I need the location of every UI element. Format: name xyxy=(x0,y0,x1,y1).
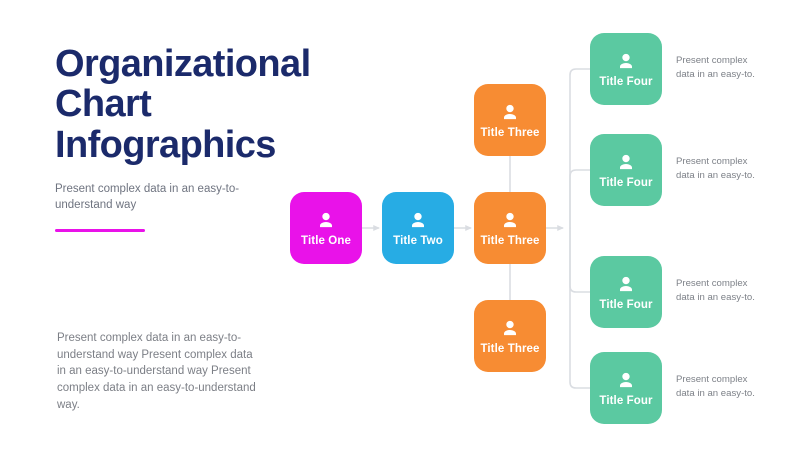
node-title-four-3-label: Title Four xyxy=(599,299,652,311)
node-title-three-2[interactable]: Title Three xyxy=(474,192,546,264)
person-icon xyxy=(500,318,520,338)
node-title-four-2[interactable]: Title Four xyxy=(590,134,662,206)
node-title-two[interactable]: Title Two xyxy=(382,192,454,264)
node-title-four-1-description: Present complex data in an easy-to. xyxy=(676,54,762,82)
node-title-four-2-label: Title Four xyxy=(599,177,652,189)
node-title-four-4-description: Present complex data in an easy-to. xyxy=(676,373,762,401)
node-title-four-4[interactable]: Title Four xyxy=(590,352,662,424)
person-icon xyxy=(500,210,520,230)
person-icon xyxy=(408,210,428,230)
node-title-four-3-description: Present complex data in an easy-to. xyxy=(676,277,762,305)
node-title-four-2-description: Present complex data in an easy-to. xyxy=(676,155,762,183)
node-title-one[interactable]: Title One xyxy=(290,192,362,264)
person-icon xyxy=(616,51,636,71)
person-icon xyxy=(500,102,520,122)
node-title-four-4-label: Title Four xyxy=(599,395,652,407)
node-title-three-3-label: Title Three xyxy=(480,343,539,355)
slide-canvas: Organizational Chart Infographics Presen… xyxy=(0,0,800,450)
node-title-four-3[interactable]: Title Four xyxy=(590,256,662,328)
person-icon xyxy=(316,210,336,230)
node-title-four-1-label: Title Four xyxy=(599,76,652,88)
node-title-three-1-label: Title Three xyxy=(480,127,539,139)
node-title-three-3[interactable]: Title Three xyxy=(474,300,546,372)
node-title-four-1[interactable]: Title Four xyxy=(590,33,662,105)
person-icon xyxy=(616,152,636,172)
node-title-one-label: Title One xyxy=(301,235,351,247)
node-title-two-label: Title Two xyxy=(393,235,443,247)
organizational-chart: Title One Title Two Title Three Title Th… xyxy=(0,0,800,450)
person-icon xyxy=(616,370,636,390)
node-title-three-2-label: Title Three xyxy=(480,235,539,247)
person-icon xyxy=(616,274,636,294)
node-title-three-1[interactable]: Title Three xyxy=(474,84,546,156)
